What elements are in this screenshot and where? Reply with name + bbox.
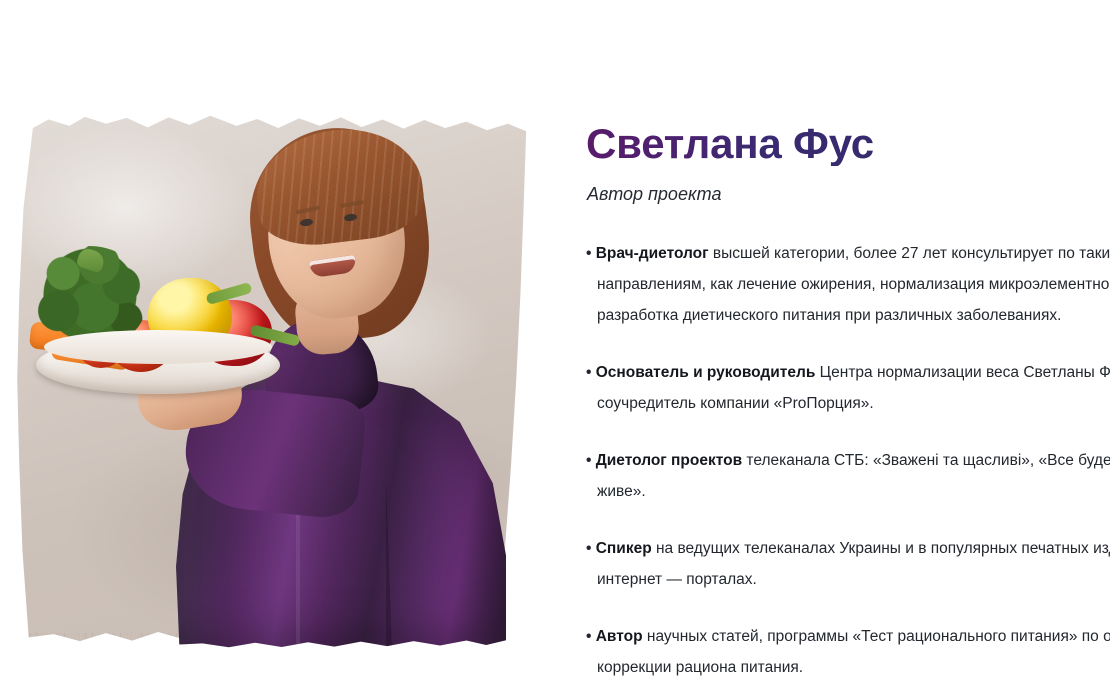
bio-item: • Автор научных статей, программы «Тест … bbox=[586, 621, 1110, 683]
bullet-icon: • bbox=[586, 540, 596, 557]
bio-item-lead: Диетолог проектов bbox=[596, 452, 742, 469]
person-illustration bbox=[0, 0, 560, 662]
page-title: Светлана Фус bbox=[586, 122, 874, 166]
bullet-icon: • bbox=[586, 628, 596, 645]
bio-item: • Спикер на ведущих телеканалах Украины … bbox=[586, 533, 1110, 595]
portrait-photo bbox=[0, 0, 560, 662]
bullet-icon: • bbox=[586, 364, 596, 381]
finger bbox=[0, 71, 16, 110]
bio-item: • Врач-диетолог высшей категории, более … bbox=[586, 238, 1110, 331]
finger bbox=[0, 33, 18, 73]
bio-item-lead: Автор bbox=[596, 628, 643, 645]
finger bbox=[0, 110, 14, 145]
bio-item-lead: Основатель и руководитель bbox=[596, 364, 816, 381]
bio-item: • Диетолог проектов телеканала СТБ: «Зва… bbox=[586, 445, 1110, 507]
bio-list: • Врач-диетолог высшей категории, более … bbox=[586, 238, 1110, 683]
bio-item-text: научных статей, программы «Тест рационал… bbox=[597, 628, 1110, 676]
bio-item: • Основатель и руководитель Центра норма… bbox=[586, 357, 1110, 419]
bio-item-lead: Врач-диетолог bbox=[596, 245, 709, 262]
bullet-icon: • bbox=[586, 245, 596, 262]
bio-item-text: на ведущих телеканалах Украины и в попул… bbox=[597, 540, 1110, 588]
bio-item-lead: Спикер bbox=[596, 540, 652, 557]
profile-page: Светлана Фус Автор проекта • Врач-диетол… bbox=[0, 0, 1110, 662]
plate-rim bbox=[44, 330, 272, 364]
profile-text-column: Светлана Фус Автор проекта • Врач-диетол… bbox=[586, 0, 1110, 662]
page-subtitle: Автор проекта bbox=[587, 184, 721, 205]
bullet-icon: • bbox=[586, 452, 596, 469]
finger bbox=[0, 0, 20, 35]
